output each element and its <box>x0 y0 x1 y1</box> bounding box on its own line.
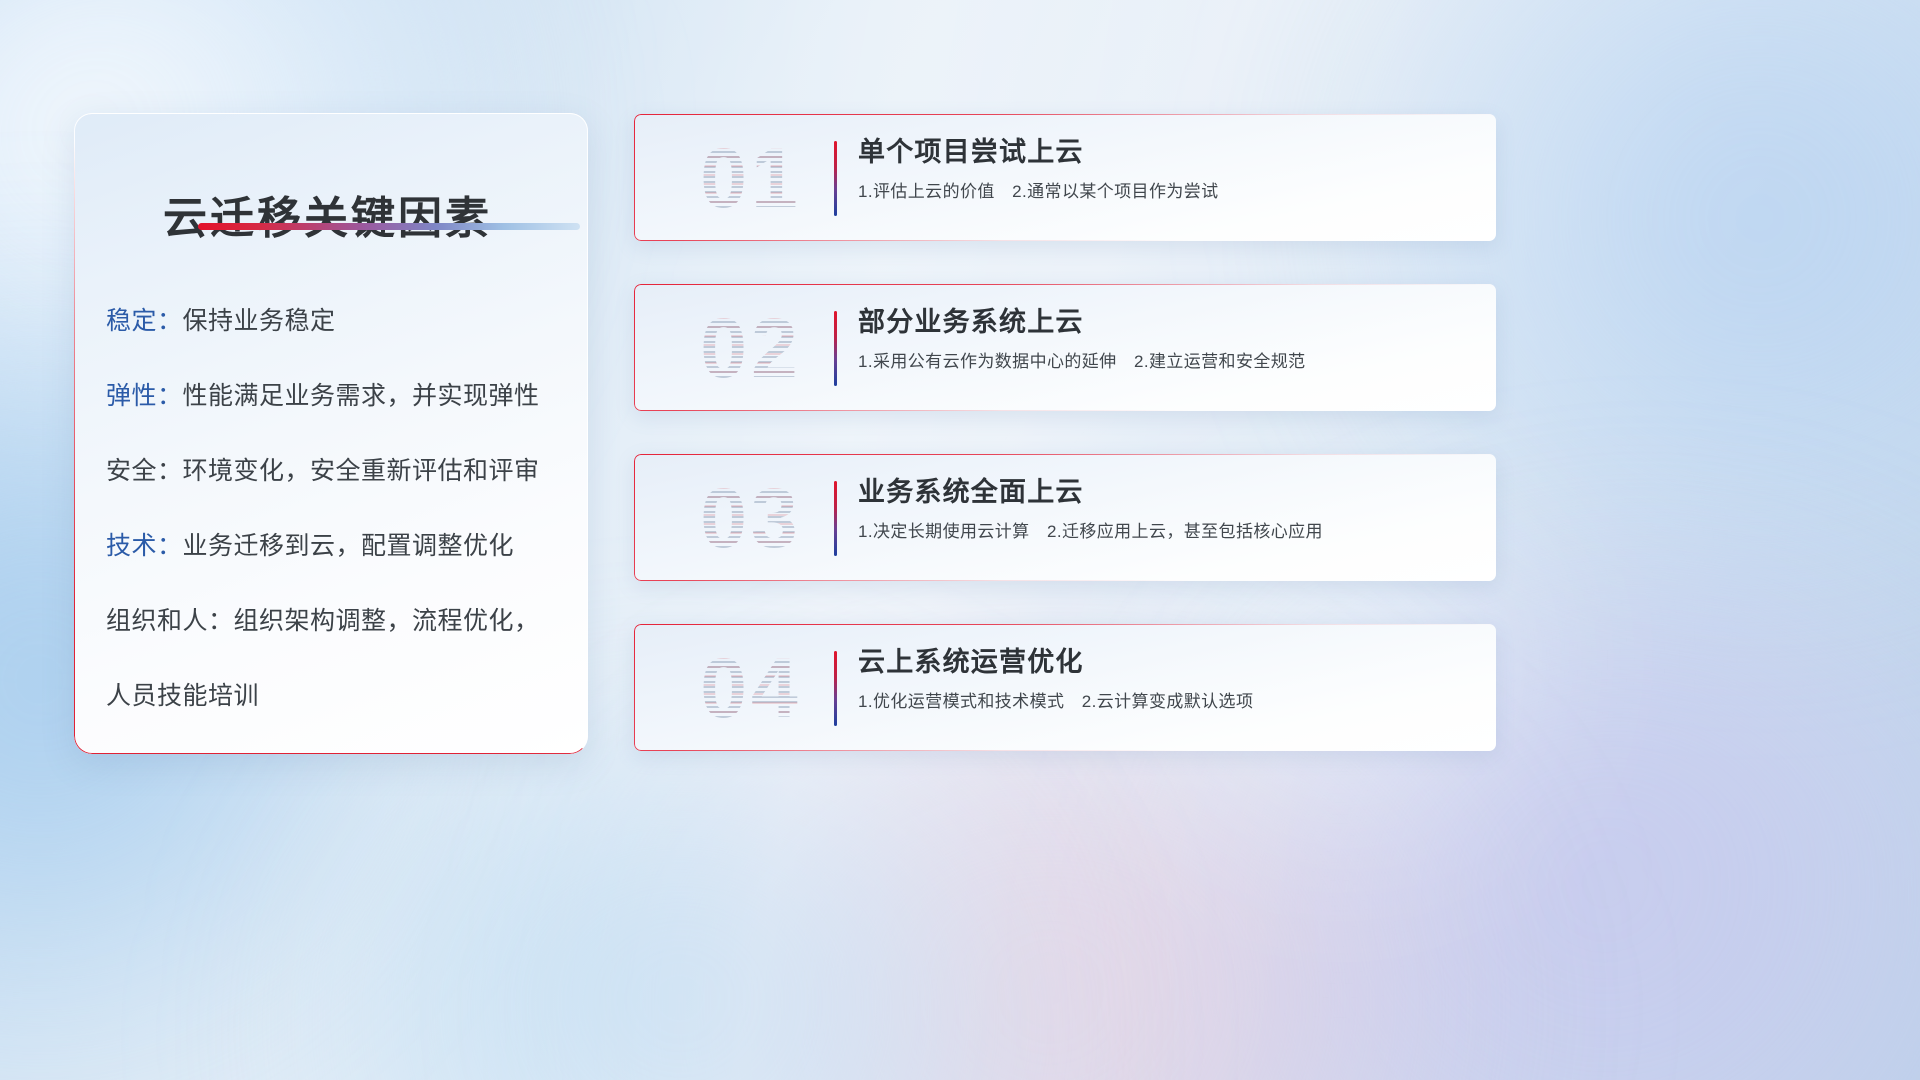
stage-card-title: 单个项目尝试上云 <box>858 136 1480 168</box>
stage-card-title: 云上系统运营优化 <box>858 646 1480 678</box>
list-item-continuation: 人员技能培训 <box>106 684 564 709</box>
stage-accent-bar <box>834 311 837 386</box>
list-item-text: 环境变化，安全重新评估和评审 <box>183 457 540 485</box>
list-item-label: 弹性： <box>106 382 183 410</box>
list-item: 组织和人：组织架构调整，流程优化， <box>106 609 564 634</box>
slide-canvas: 云迁移关键因素 稳定：保持业务稳定 弹性：性能满足业务需求，并实现弹性 安全：环… <box>0 0 1920 1080</box>
list-item-text: 保持业务稳定 <box>183 307 336 335</box>
stage-number-watermark-tint: 02 <box>676 298 826 398</box>
stage-number-watermark-tint: 04 <box>676 638 826 738</box>
stage-card-content: 云上系统运营优化 1.优化运营模式和技术模式 2.云计算变成默认选项 <box>858 646 1480 713</box>
stage-card-subtitle: 1.优化运营模式和技术模式 2.云计算变成默认选项 <box>858 691 1480 713</box>
list-item-label: 稳定： <box>106 307 183 335</box>
list-item: 稳定：保持业务稳定 <box>106 309 564 334</box>
stage-card-03[interactable]: 03 03 业务系统全面上云 1.决定长期使用云计算 2.迁移应用上云，甚至包括… <box>634 454 1496 581</box>
list-item-text: 性能满足业务需求，并实现弹性 <box>183 382 540 410</box>
stage-card-04[interactable]: 04 04 云上系统运营优化 1.优化运营模式和技术模式 2.云计算变成默认选项 <box>634 624 1496 751</box>
migration-stage-cards: 01 01 单个项目尝试上云 1.评估上云的价值 2.通常以某个项目作为尝试 0… <box>634 114 1496 751</box>
stage-card-content: 单个项目尝试上云 1.评估上云的价值 2.通常以某个项目作为尝试 <box>858 136 1480 203</box>
stage-card-subtitle: 1.采用公有云作为数据中心的延伸 2.建立运营和安全规范 <box>858 351 1480 373</box>
stage-card-subtitle: 1.评估上云的价值 2.通常以某个项目作为尝试 <box>858 181 1480 203</box>
list-item-text: 人员技能培训 <box>106 682 259 710</box>
key-factors-list: 稳定：保持业务稳定 弹性：性能满足业务需求，并实现弹性 安全：环境变化，安全重新… <box>106 309 564 709</box>
list-item-label: 技术： <box>106 532 183 560</box>
list-item: 技术：业务迁移到云，配置调整优化 <box>106 534 564 559</box>
stage-card-02[interactable]: 02 02 部分业务系统上云 1.采用公有云作为数据中心的延伸 2.建立运营和安… <box>634 284 1496 411</box>
stage-number-watermark-tint: 01 <box>676 128 826 228</box>
list-item: 安全：环境变化，安全重新评估和评审 <box>106 459 564 484</box>
stage-card-content: 业务系统全面上云 1.决定长期使用云计算 2.迁移应用上云，甚至包括核心应用 <box>858 476 1480 543</box>
stage-card-title: 业务系统全面上云 <box>858 476 1480 508</box>
title-underline-accent <box>198 223 580 230</box>
stage-accent-bar <box>834 651 837 726</box>
stage-card-title: 部分业务系统上云 <box>858 306 1480 338</box>
stage-accent-bar <box>834 481 837 556</box>
stage-card-01[interactable]: 01 01 单个项目尝试上云 1.评估上云的价值 2.通常以某个项目作为尝试 <box>634 114 1496 241</box>
list-item-label: 组织和人： <box>106 607 234 635</box>
stage-accent-bar <box>834 141 837 216</box>
list-item-text: 业务迁移到云，配置调整优化 <box>183 532 515 560</box>
stage-card-subtitle: 1.决定长期使用云计算 2.迁移应用上云，甚至包括核心应用 <box>858 521 1480 543</box>
key-factors-panel: 云迁移关键因素 稳定：保持业务稳定 弹性：性能满足业务需求，并实现弹性 安全：环… <box>74 113 588 754</box>
page-title: 云迁移关键因素 <box>163 182 492 246</box>
list-item: 弹性：性能满足业务需求，并实现弹性 <box>106 384 564 409</box>
list-item-text: 组织架构调整，流程优化， <box>234 607 540 635</box>
list-item-label: 安全： <box>106 457 183 485</box>
stage-number-watermark-tint: 03 <box>676 468 826 568</box>
stage-card-content: 部分业务系统上云 1.采用公有云作为数据中心的延伸 2.建立运营和安全规范 <box>858 306 1480 373</box>
